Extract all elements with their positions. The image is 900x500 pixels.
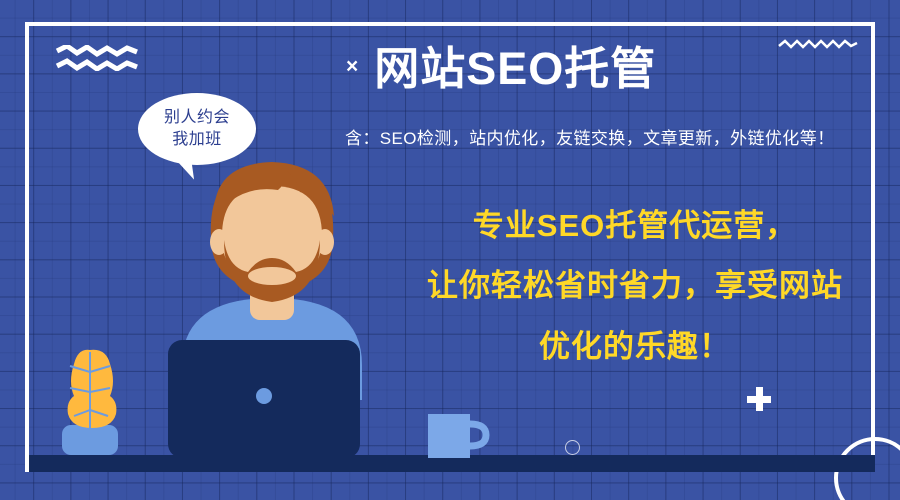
body-copy-line-3: 优化的乐趣！	[395, 317, 875, 377]
title-row: × 网站SEO托管	[346, 46, 766, 91]
body-copy: 专业SEO托管代运营， 让你轻松省时省力，享受网站 优化的乐趣！	[395, 196, 875, 377]
speech-bubble-line-2: 我加班	[172, 129, 222, 151]
banner-frame-bottom	[25, 468, 875, 472]
seo-promo-banner: 别人约会 我加班 × 网站SEO托管 含：SEO检测，站内优化，友链交换，文章更…	[0, 0, 900, 500]
body-copy-line-2: 让你轻松省时省力，享受网站	[395, 256, 875, 316]
x-mark-icon: ×	[346, 56, 358, 81]
subtitle: 含：SEO检测，站内优化，友链交换，文章更新，外链优化等！	[345, 124, 875, 149]
wave-lines-icon	[55, 45, 140, 76]
wave-line-icon	[778, 38, 858, 57]
small-circle-icon	[565, 440, 580, 455]
page-title: 网站SEO托管	[374, 46, 656, 91]
speech-bubble-line-1: 别人约会	[164, 107, 230, 129]
body-copy-line-1: 专业SEO托管代运营，	[395, 196, 875, 256]
plus-mark-icon	[747, 387, 771, 411]
speech-bubble: 别人约会 我加班	[138, 93, 256, 165]
